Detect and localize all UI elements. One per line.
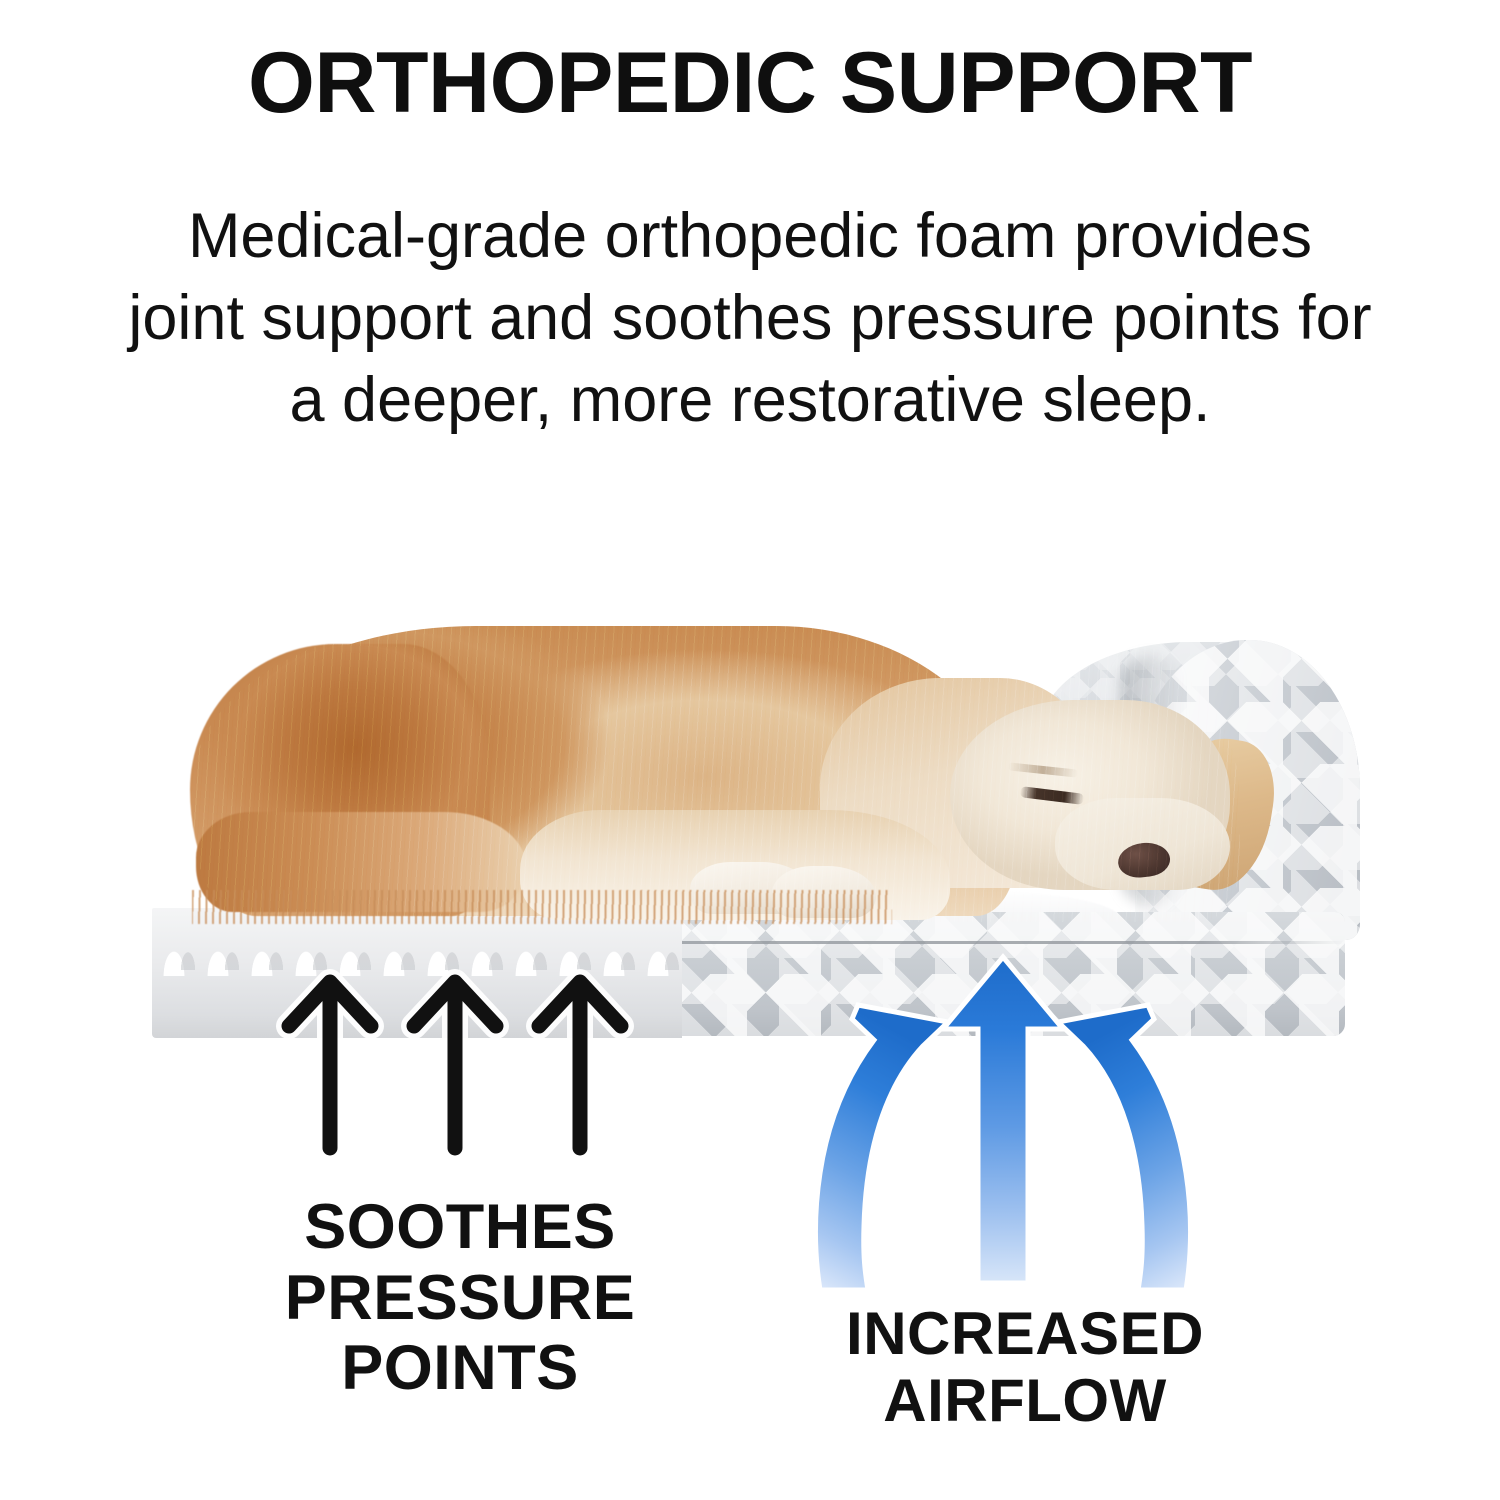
airflow-arrow-center xyxy=(943,957,1063,1283)
caption-soothes-pressure-points: SOOTHES PRESSURE POINTS xyxy=(175,1192,745,1404)
caption-right-line-1: INCREASED xyxy=(745,1300,1305,1367)
caption-right-line-2: AIRFLOW xyxy=(745,1367,1305,1434)
caption-left-line-3: POINTS xyxy=(175,1333,745,1404)
caption-left-line-1: SOOTHES xyxy=(175,1192,745,1263)
caption-increased-airflow: INCREASED AIRFLOW xyxy=(745,1300,1305,1434)
airflow-arrow-right xyxy=(1058,1005,1191,1290)
caption-left-line-2: PRESSURE xyxy=(175,1263,745,1334)
airflow-arrow-left xyxy=(816,1005,949,1290)
